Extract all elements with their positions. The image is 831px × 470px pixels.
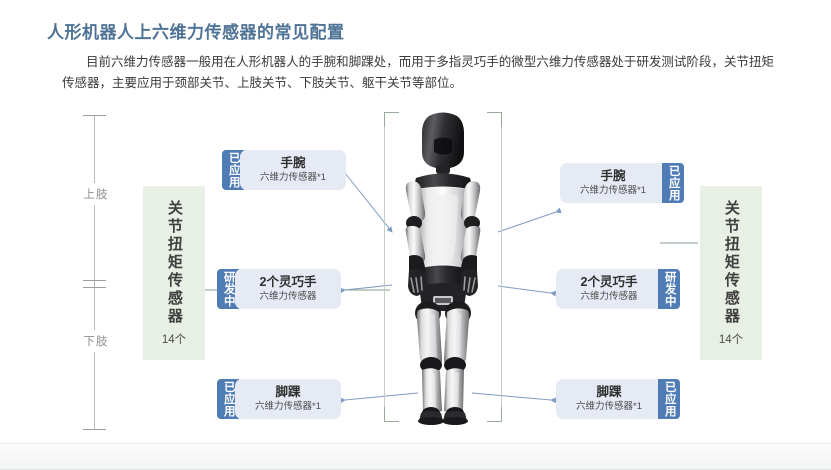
callout-right-ankle-subtitle: 六维力传感器*1 bbox=[576, 401, 642, 413]
robot-illustration bbox=[378, 110, 508, 425]
ruler-label-lower-limb: 下肢 bbox=[81, 330, 111, 352]
callout-left-hand[interactable]: 研发中 2个灵巧手 六维力传感器 bbox=[217, 269, 341, 309]
callout-right-wrist-body: 手腕 六维力传感器*1 bbox=[560, 163, 666, 203]
callout-right-ankle[interactable]: 脚踝 六维力传感器*1 已应用 bbox=[556, 379, 680, 419]
paragraph-text: 目前六维力传感器一般用在人形机器人的手腕和脚踝处，而用于多指灵巧手的微型六维力传… bbox=[62, 55, 774, 90]
callout-left-hand-title: 2个灵巧手 bbox=[260, 275, 317, 289]
callout-right-hand-badge: 研发中 bbox=[658, 269, 680, 309]
ruler-tick-mid-upper bbox=[83, 280, 106, 281]
ruler-tick-mid-lower bbox=[83, 287, 106, 288]
callout-right-wrist-title: 手腕 bbox=[600, 169, 625, 183]
ruler-spine bbox=[94, 115, 95, 430]
intro-paragraph: 目前六维力传感器一般用在人形机器人的手腕和脚踝处，而用于多指灵巧手的微型六维力传… bbox=[62, 52, 774, 94]
panel-left-title: 关节扭矩传感器 bbox=[166, 200, 182, 326]
callout-right-wrist-subtitle: 六维力传感器*1 bbox=[580, 185, 646, 197]
callout-right-ankle-badge: 已应用 bbox=[658, 379, 680, 419]
robot-svg bbox=[378, 110, 508, 425]
callout-left-ankle-subtitle: 六维力传感器*1 bbox=[255, 401, 321, 413]
callout-left-wrist-title: 手腕 bbox=[280, 156, 305, 170]
callout-right-hand-body: 2个灵巧手 六维力传感器 bbox=[556, 269, 662, 309]
callout-left-wrist-body: 手腕 六维力传感器*1 bbox=[240, 150, 346, 190]
panel-right-title: 关节扭矩传感器 bbox=[723, 200, 739, 326]
callout-right-hand[interactable]: 2个灵巧手 六维力传感器 研发中 bbox=[556, 269, 680, 309]
panel-joint-torque-right: 关节扭矩传感器 14个 bbox=[700, 186, 762, 360]
callout-right-wrist[interactable]: 手腕 六维力传感器*1 已应用 bbox=[560, 163, 684, 203]
slide-footer-band bbox=[0, 443, 831, 470]
callout-left-ankle[interactable]: 已应用 脚踝 六维力传感器*1 bbox=[217, 379, 341, 419]
callout-left-hand-body: 2个灵巧手 六维力传感器 bbox=[235, 269, 341, 309]
ruler-label-upper-limb: 上肢 bbox=[81, 183, 111, 205]
callout-right-ankle-title: 脚踝 bbox=[596, 385, 621, 399]
slide-canvas: 人形机器人上六维力传感器的常见配置 目前六维力传感器一般用在人形机器人的手腕和脚… bbox=[0, 0, 831, 470]
callout-left-hand-subtitle: 六维力传感器 bbox=[259, 291, 316, 303]
callout-left-wrist-subtitle: 六维力传感器*1 bbox=[260, 172, 326, 184]
callout-right-wrist-badge: 已应用 bbox=[662, 163, 684, 203]
panel-right-count: 14个 bbox=[719, 331, 743, 347]
callout-left-ankle-body: 脚踝 六维力传感器*1 bbox=[235, 379, 341, 419]
ruler-tick-bottom bbox=[83, 429, 106, 430]
page-title: 人形机器人上六维力传感器的常见配置 bbox=[47, 18, 345, 43]
callout-left-ankle-title: 脚踝 bbox=[275, 385, 300, 399]
limb-ruler: 上肢 下肢 bbox=[82, 115, 126, 430]
ruler-tick-top bbox=[83, 115, 106, 116]
callout-left-wrist[interactable]: 已应用 手腕 六维力传感器*1 bbox=[222, 150, 346, 190]
callout-right-ankle-body: 脚踝 六维力传感器*1 bbox=[556, 379, 662, 419]
panel-left-count: 14个 bbox=[162, 331, 186, 347]
callout-right-hand-title: 2个灵巧手 bbox=[581, 275, 638, 289]
panel-joint-torque-left: 关节扭矩传感器 14个 bbox=[143, 186, 205, 360]
callout-right-hand-subtitle: 六维力传感器 bbox=[580, 291, 637, 303]
